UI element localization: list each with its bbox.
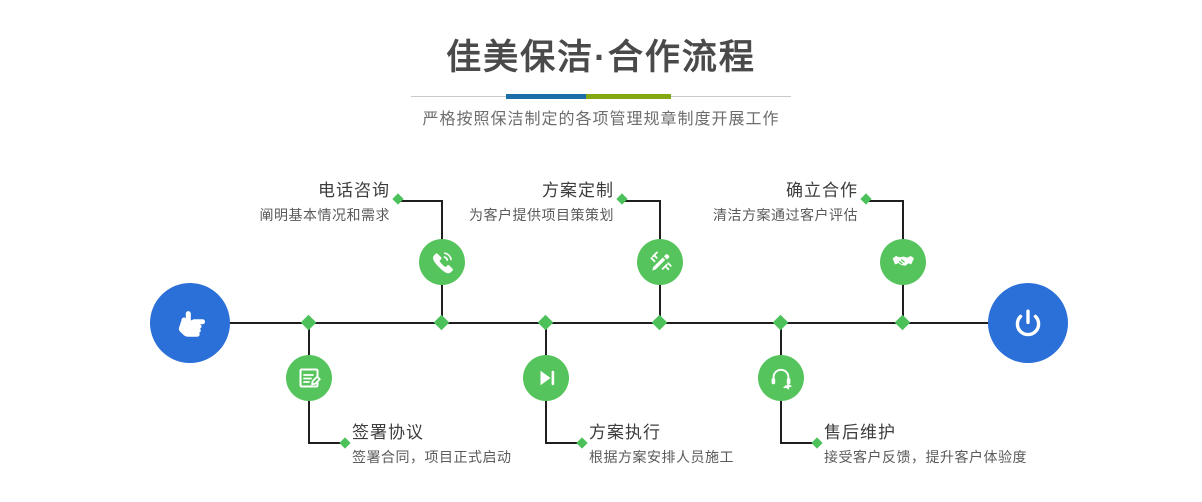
step-title-2: 签署协议: [352, 422, 592, 444]
handshake-icon: [888, 247, 918, 277]
label-diamond-step-2: [339, 437, 350, 448]
step-node-1: [419, 239, 465, 285]
step-label-1: 电话咨询 阐明基本情况和需求: [150, 180, 390, 226]
cooperation-flow-infographic: 佳美保洁·合作流程 严格按照保洁制定的各项管理规章制度开展工作: [0, 0, 1202, 502]
step-title-6: 确立合作: [620, 180, 858, 202]
pointing-hand-icon: [168, 301, 212, 345]
step-node-3: [637, 239, 683, 285]
step-node-5: [758, 355, 804, 401]
page-subtitle: 严格按照保洁制定的各项管理规章制度开展工作: [0, 109, 1202, 131]
step-label-3: 方案定制 为客户提供项目策策划: [380, 180, 614, 226]
axis-diamond-step-5: [773, 315, 789, 331]
timeline-axis: [150, 322, 1052, 324]
headset-support-icon: [766, 363, 796, 393]
step-desc-3: 为客户提供项目策策划: [380, 204, 614, 226]
axis-diamond-step-4: [538, 315, 554, 331]
pencil-ruler-icon: [645, 247, 675, 277]
step-title-4: 方案执行: [589, 422, 829, 444]
step-title-5: 售后维护: [824, 422, 1074, 444]
play-execute-icon: [531, 363, 561, 393]
title-divider: [411, 94, 791, 99]
divider-segment-blue: [506, 94, 586, 99]
axis-diamond-step-3: [652, 315, 668, 331]
step-node-6: [880, 239, 926, 285]
connector-horizontal-step-6: [866, 200, 904, 202]
page-title: 佳美保洁·合作流程: [0, 0, 1202, 80]
step-label-4: 方案执行 根据方案安排人员施工: [589, 422, 829, 468]
axis-diamond-step-2: [301, 315, 317, 331]
divider-segment-green: [586, 94, 671, 99]
timeline-end-node: [988, 283, 1068, 363]
step-node-2: [286, 355, 332, 401]
step-desc-6: 清洁方案通过客户评估: [620, 204, 858, 226]
step-node-4: [523, 355, 569, 401]
step-label-2: 签署协议 签署合同，项目正式启动: [352, 422, 592, 468]
header: 佳美保洁·合作流程 严格按照保洁制定的各项管理规章制度开展工作: [0, 0, 1202, 131]
axis-diamond-step-6: [895, 315, 911, 331]
step-desc-4: 根据方案安排人员施工: [589, 446, 829, 468]
step-title-1: 电话咨询: [150, 180, 390, 202]
step-desc-1: 阐明基本情况和需求: [150, 204, 390, 226]
step-title-3: 方案定制: [380, 180, 614, 202]
label-diamond-step-6: [860, 193, 871, 204]
step-label-5: 售后维护 接受客户反馈，提升客户体验度: [824, 422, 1074, 468]
step-desc-5: 接受客户反馈，提升客户体验度: [824, 446, 1074, 468]
power-icon: [1006, 301, 1050, 345]
document-edit-icon: [294, 363, 324, 393]
step-desc-2: 签署合同，项目正式启动: [352, 446, 592, 468]
axis-diamond-step-1: [434, 315, 450, 331]
phone-call-icon: [427, 247, 457, 277]
step-label-6: 确立合作 清洁方案通过客户评估: [620, 180, 858, 226]
timeline-start-node: [150, 283, 230, 363]
timeline: 电话咨询 阐明基本情况和需求 签署协议 签署合同，项目正式启动: [0, 160, 1202, 502]
